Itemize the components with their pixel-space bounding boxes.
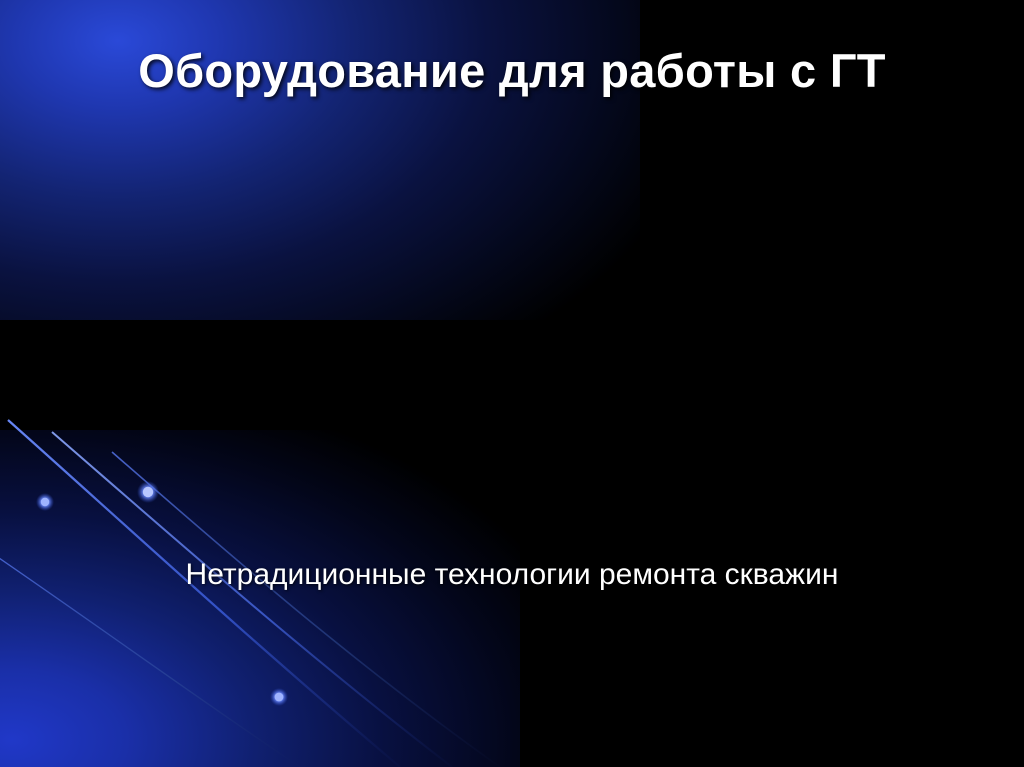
slide-title: Оборудование для работы с ГТ — [62, 42, 962, 99]
background-glow-bottom — [0, 430, 520, 767]
presentation-slide: Оборудование для работы с ГТ Нетрадицион… — [0, 0, 1024, 767]
slide-subtitle: Нетрадиционные технологии ремонта скважи… — [162, 556, 862, 594]
decorative-arcs — [0, 0, 1024, 767]
